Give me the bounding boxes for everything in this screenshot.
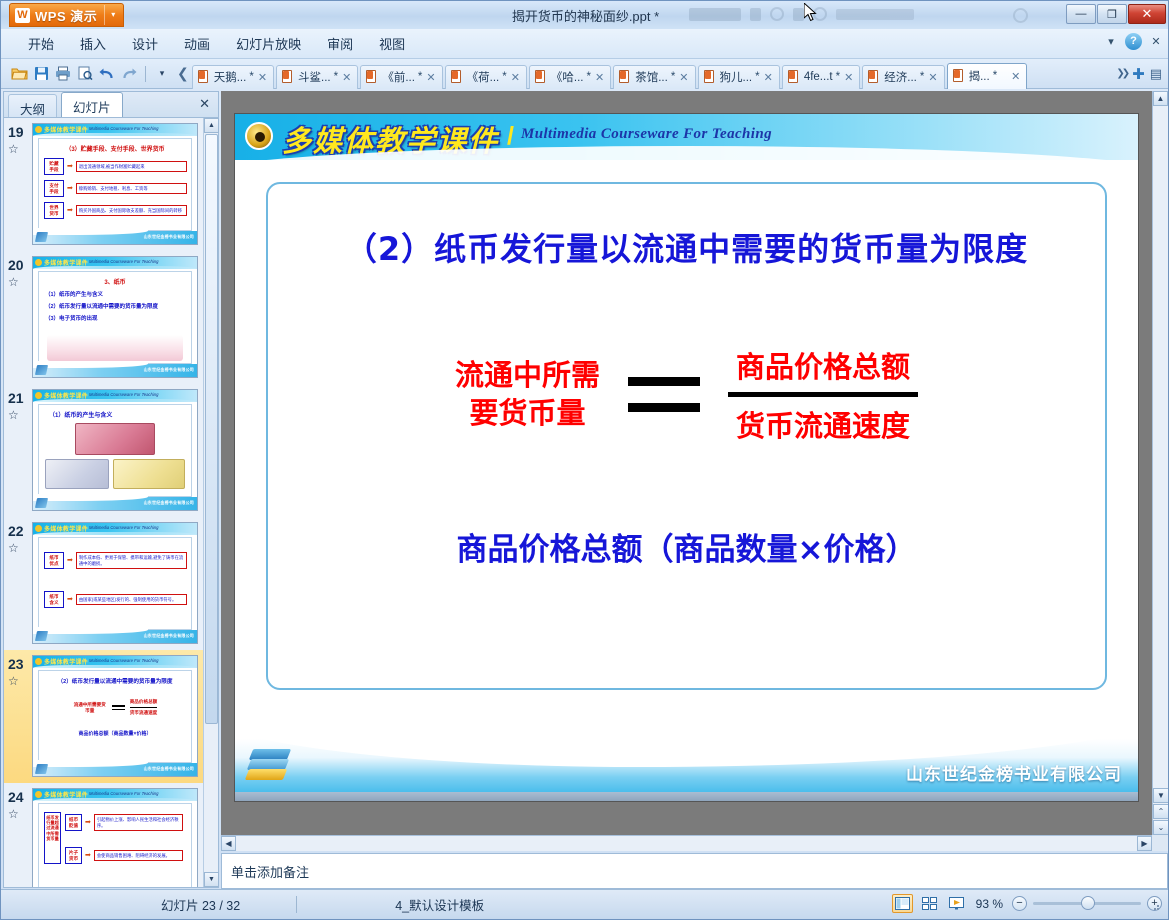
doc-tab-close-icon[interactable]: ✕ — [927, 71, 938, 84]
doc-tab-2[interactable]: 《前... * ✕ — [360, 65, 442, 89]
window-controls: — ❐ ✕ — [1066, 4, 1166, 24]
save-icon[interactable] — [31, 64, 51, 84]
modified-indicator: * — [920, 71, 924, 83]
modified-indicator: * — [502, 71, 506, 83]
close-document-icon[interactable]: ✕ — [1148, 35, 1164, 48]
ppt-file-icon — [704, 70, 717, 84]
animation-star-icon: ☆ — [8, 408, 32, 423]
thumbnail-number: 21 ☆ — [8, 389, 32, 512]
ghost-button-1 — [689, 8, 741, 21]
slide-vertical-scrollbar[interactable]: ▲ ▼ ⌃ ⌄ — [1152, 91, 1168, 835]
thumbnail-number: 19 ☆ — [8, 123, 32, 246]
slide-title[interactable]: （2）纸币发行量以流通中需要的货币量为限度 — [268, 224, 1105, 270]
thumb-bottom-text: 商品价格总额（商品数量×价格） — [39, 730, 191, 737]
document-tabs: 天鹅... * ✕ 斗鲨... * ✕ 《前... * ✕ 《荷... * ✕ — [192, 59, 1117, 89]
modified-indicator: * — [671, 71, 675, 83]
formula-numerator: 商品价格总额 — [728, 344, 918, 386]
doc-tab-label: 4fe...t — [804, 71, 833, 83]
thumbnail-number: 23 ☆ — [8, 655, 32, 778]
doc-tab-label: 天鹅... — [214, 69, 247, 85]
mouse-cursor — [804, 3, 817, 23]
slide-scroll-left-button[interactable]: ◀ — [221, 836, 236, 851]
ghost-button-3 — [770, 7, 784, 21]
thumb-header: 多媒体教学课件 Multimedia Courseware For Teachi… — [33, 257, 197, 269]
print-icon[interactable] — [53, 64, 73, 84]
doc-tab-label: 经济... — [884, 69, 917, 85]
slide-footer-text: 山东世纪金榜书业有限公司 — [906, 760, 1122, 785]
modified-indicator: * — [836, 71, 840, 83]
prev-slide-button[interactable]: ⌃ — [1153, 804, 1169, 819]
doc-tab-close-icon[interactable]: ✕ — [341, 71, 352, 84]
thumb-footer: 山东世纪金榜书业有限公司 — [33, 497, 197, 510]
arrow-right-icon: ➡ — [67, 163, 73, 170]
slide-header-banner: 多媒体教学课件 / Multimedia Courseware For Teac… — [235, 114, 1138, 160]
slide-sorter-view-button[interactable] — [919, 894, 940, 913]
slide-content-frame[interactable]: （2）纸币发行量以流通中需要的货币量为限度 流通中所需 要货币量 商品价格总额 … — [266, 182, 1107, 690]
title-bar: W WPS 演示 ▾ 揭开货币的神秘面纱.ppt * — ❐ ✕ — [1, 1, 1169, 29]
doc-tab-9-active[interactable]: 揭... * ✕ — [947, 63, 1028, 89]
thumbnail-20[interactable]: 20 ☆ 多媒体教学课件 Multimedia Courseware For T… — [4, 251, 218, 384]
thumb-row-label: 纸币 优点 — [44, 552, 64, 569]
arrow-right-icon: ➡ — [85, 852, 91, 859]
notes-placeholder: 单击添加备注 — [231, 865, 309, 880]
books-icon — [35, 631, 48, 641]
arrow-right-icon: ➡ — [85, 819, 91, 826]
doc-tab-label: 狗儿... — [720, 69, 753, 85]
fraction-bar — [728, 392, 918, 397]
thumb-footer-text: 山东世纪金榜书业有限公司 — [144, 367, 194, 373]
thumb-side-label: 纸币发行量超过流通中所需货币量 — [44, 812, 61, 864]
thumb-body: （2）纸币发行量以流通中需要的货币量为限度 流通中所需要货币量 商品价格总额 货… — [38, 670, 192, 763]
doc-tab-8[interactable]: 经济... * ✕ — [862, 65, 944, 89]
thumb-logo-icon — [35, 126, 42, 133]
doc-tab-close-icon[interactable]: ✕ — [763, 71, 774, 84]
ppt-file-icon — [282, 70, 295, 84]
scroll-down-button[interactable]: ▼ — [204, 872, 219, 887]
thumbnail-preview: 多媒体教学课件 Multimedia Courseware For Teachi… — [32, 655, 198, 777]
toolbar-separator — [145, 66, 146, 82]
thumb-footer-text: 山东世纪金榜书业有限公司 — [144, 766, 194, 772]
thumb-line-2: （3）电子货币的出现 — [45, 314, 191, 322]
thumb-row-text: 制作成本低、更易于保管、携带和运输,避免了铸币在流通中的磨损。 — [76, 552, 187, 569]
slide-header-en: Multimedia Courseware For Teaching — [521, 126, 772, 143]
thumb-header: 多媒体教学课件 Multimedia Courseware For Teachi… — [33, 789, 197, 801]
ppt-file-icon — [451, 70, 464, 84]
thumb-row-text: 购买外国商品、支付国际收支差额、充当国际间的转移 — [76, 205, 187, 217]
doc-tab-3[interactable]: 《荷... * ✕ — [445, 65, 527, 89]
ppt-file-icon — [619, 70, 632, 84]
doc-tab-close-icon[interactable]: ✕ — [257, 71, 268, 84]
animation-star-icon: ☆ — [8, 541, 32, 556]
thumb-header-en: Multimedia Courseware For Teaching — [89, 259, 158, 264]
doc-tab-7[interactable]: 4fe...t * ✕ — [782, 65, 860, 89]
doc-tab-label: 《哈... — [551, 69, 584, 85]
slide-thumbnail-list: 19 ☆ 多媒体教学课件 Multimedia Courseware For T… — [4, 118, 218, 887]
equals-bar-bottom — [628, 403, 700, 412]
thumb-footer-text: 山东世纪金榜书业有限公司 — [144, 500, 194, 506]
thumb-row-text: 引起物价上涨、影响人民生活和社会经济秩序。 — [94, 814, 183, 831]
slides-panel: 大纲 幻灯片 ✕ 19 ☆ 多媒体教学课件 Multimedia Coursew… — [3, 91, 219, 888]
formula-left-term: 流通中所需 要货币量 — [455, 357, 600, 431]
thumb-header-en: Multimedia Courseware For Teaching — [89, 525, 158, 530]
slide-horizontal-scrollbar[interactable]: ◀ ▶ — [221, 835, 1152, 851]
books-icon — [35, 365, 48, 375]
thumb-body: 3、纸币 （1）纸币的产生与含义 （2）纸币发行量以流通中需要的货币量为限度 （… — [38, 271, 192, 364]
books-icon — [35, 764, 48, 774]
document-title: 揭开货币的神秘面纱.ppt * — [1, 6, 1169, 25]
zoom-slider[interactable] — [1033, 902, 1141, 905]
footer-strip — [235, 792, 1138, 801]
formula-denominator: 货币流通速度 — [728, 403, 918, 445]
banknote-100-yuan-image — [75, 423, 155, 455]
doc-tab-close-icon[interactable]: ✕ — [678, 71, 689, 84]
doc-tab-close-icon[interactable]: ✕ — [594, 71, 605, 84]
status-bar: 幻灯片 23 / 32 4_默认设计模板 93 % − + — [1, 889, 1169, 919]
thumbnail-number: 22 ☆ — [8, 522, 32, 645]
thumb-header-cn: 多媒体教学课件 — [44, 790, 88, 799]
slides-panel-close-icon[interactable]: ✕ — [199, 96, 210, 112]
menu-item-animation[interactable]: 动画 — [171, 30, 223, 57]
formula-fraction: 商品价格总额 货币流通速度 — [728, 344, 918, 445]
ppt-file-icon — [953, 69, 966, 83]
zoom-out-button[interactable]: − — [1012, 896, 1027, 911]
redo-icon[interactable] — [119, 64, 139, 84]
thumbnail-19[interactable]: 19 ☆ 多媒体教学课件 Multimedia Courseware For T… — [4, 118, 218, 251]
equals-sign — [628, 377, 700, 412]
modified-indicator: * — [755, 71, 759, 83]
thumb-row-label: 纸币 贬值 — [65, 814, 82, 831]
customize-toolbar-chevron-down-icon[interactable]: ▾ — [152, 64, 172, 84]
thumbnail-22[interactable]: 22 ☆ 多媒体教学课件 Multimedia Courseware For T… — [4, 517, 218, 650]
thumb-row-text: 赊购赊销、支付地租、利息、工资等 — [76, 183, 187, 195]
thumb-row-label: 世界 货币 — [44, 202, 64, 219]
arrow-right-icon: ➡ — [67, 185, 73, 192]
slide-header-cn: 多媒体教学课件 — [282, 118, 499, 160]
maximize-button[interactable]: ❐ — [1097, 4, 1127, 24]
modified-indicator: * — [418, 71, 422, 83]
wps-presentation-window: W WPS 演示 ▾ 揭开货币的神秘面纱.ppt * — ❐ ✕ 开始 插入 设… — [0, 0, 1169, 920]
scroll-up-button[interactable]: ▲ — [204, 118, 219, 133]
menu-item-view[interactable]: 视图 — [366, 30, 418, 57]
thumb-row-0: 纸币 优点 ➡ 制作成本低、更易于保管、携带和运输,避免了铸币在流通中的磨损。 — [44, 552, 191, 569]
thumb-header: 多媒体教学课件 Multimedia Courseware For Teachi… — [33, 523, 197, 535]
thumbnail-preview: 多媒体教学课件 Multimedia Courseware For Teachi… — [32, 788, 198, 887]
doc-tab-label: 《荷... — [467, 69, 500, 85]
courseware-logo-icon — [245, 122, 273, 150]
slideshow-view-button[interactable] — [946, 894, 967, 913]
new-tab-icon[interactable]: ✚ — [1132, 65, 1145, 83]
notes-pane[interactable]: 单击添加备注 — [221, 853, 1168, 889]
slides-panel-tabs: 大纲 幻灯片 ✕ — [4, 92, 218, 118]
modified-indicator: * — [993, 70, 997, 82]
equals-bar-top — [628, 377, 700, 386]
thumb-header-en: Multimedia Courseware For Teaching — [89, 658, 158, 663]
slide-scroll-right-button[interactable]: ▶ — [1137, 836, 1152, 851]
doc-tab-5[interactable]: 茶馆... * ✕ — [613, 65, 695, 89]
thumb-footer-text: 山东世纪金榜书业有限公司 — [144, 633, 194, 639]
thumb-row-2: 世界 货币 ➡ 购买外国商品、支付国际收支差额、充当国际间的转移 — [44, 202, 191, 219]
thumb-header-cn: 多媒体教学课件 — [44, 258, 88, 267]
decorative-flower-image — [47, 335, 183, 361]
thumbnail-preview: 多媒体教学课件 Multimedia Courseware For Teachi… — [32, 389, 198, 511]
menu-item-review[interactable]: 审阅 — [314, 30, 366, 57]
ppt-file-icon — [366, 70, 379, 84]
doc-tab-close-icon[interactable]: ✕ — [425, 71, 436, 84]
modified-indicator: * — [587, 71, 591, 83]
thumb-logo-icon — [35, 392, 42, 399]
thumbnail-preview: 多媒体教学课件 Multimedia Courseware For Teachi… — [32, 256, 198, 378]
thumb-header: 多媒体教学课件 Multimedia Courseware For Teachi… — [33, 124, 197, 136]
slide-editing-stage[interactable]: 多媒体教学课件 / Multimedia Courseware For Teac… — [221, 91, 1168, 851]
books-icon — [35, 232, 48, 242]
arrow-right-icon: ➡ — [67, 596, 73, 603]
thumb-header-en: Multimedia Courseware For Teaching — [89, 392, 158, 397]
tabs-scroll-prev-button[interactable]: ❮ — [174, 65, 192, 82]
books-icon — [247, 747, 291, 787]
undo-icon[interactable] — [97, 64, 117, 84]
thumb-body: （1）纸币的产生与含义 — [38, 404, 192, 497]
doc-tab-close-icon[interactable]: ✕ — [843, 71, 854, 84]
thumb-body: 纸币发行量超过流通中所需货币量 纸币 贬值 ➡ 引起物价上涨、影响人民生活和社会… — [38, 803, 192, 887]
thumb-logo-icon — [35, 791, 42, 798]
thumb-footer: 山东世纪金榜书业有限公司 — [33, 630, 197, 643]
current-slide[interactable]: 多媒体教学课件 / Multimedia Courseware For Teac… — [234, 113, 1139, 802]
thumb-footer: 山东世纪金榜书业有限公司 — [33, 763, 197, 776]
thumb-header-cn: 多媒体教学课件 — [44, 657, 88, 666]
search-icon[interactable] — [1013, 8, 1028, 23]
thumb-footer-text: 山东世纪金榜书业有限公司 — [144, 234, 194, 240]
slides-panel-scrollbar[interactable]: ▲ ▼ — [203, 118, 218, 887]
quick-access-toolbar: ▾ ❮ — [1, 64, 192, 84]
menu-item-design[interactable]: 设计 — [119, 30, 171, 57]
menu-item-insert[interactable]: 插入 — [67, 30, 119, 57]
thumbnail-preview: 多媒体教学课件 Multimedia Courseware For Teachi… — [32, 522, 198, 644]
menu-bar-right-controls: ▾ ? ✕ — [1103, 33, 1164, 50]
thumb-line-0: （1）纸币的产生与含义 — [45, 290, 191, 298]
menu-item-slideshow[interactable]: 幻灯片放映 — [223, 30, 314, 57]
thumbnail-preview: 多媒体教学课件 Multimedia Courseware For Teachi… — [32, 123, 198, 245]
tab-slides[interactable]: 幻灯片 — [61, 92, 123, 117]
thumb-formula-denominator: 货币流通速度 — [130, 710, 158, 716]
doc-tab-close-icon[interactable]: ✕ — [1010, 70, 1021, 83]
thumb-header-en: Multimedia Courseware For Teaching — [89, 791, 158, 796]
banknote-10-euro-image — [45, 459, 109, 489]
thumb-line-1: （2）纸币发行量以流通中需要的货币量为限度 — [45, 302, 191, 310]
ghost-button-6 — [836, 9, 914, 20]
animation-star-icon: ☆ — [8, 142, 32, 157]
status-bar-right: 93 % − + — [892, 894, 1162, 913]
ppt-file-icon — [535, 70, 548, 84]
window-list-icon[interactable]: ▤ — [1150, 66, 1162, 82]
scrollbar-corner — [1152, 835, 1168, 851]
design-template-label[interactable]: 4_默认设计模板 — [395, 895, 484, 914]
slide-header-slash: / — [507, 122, 514, 151]
chevron-down-icon[interactable]: ▾ — [1103, 35, 1119, 48]
ppt-file-icon — [198, 70, 211, 84]
doc-tab-6[interactable]: 狗儿... * ✕ — [698, 65, 780, 89]
thumbnail-21[interactable]: 21 ☆ 多媒体教学课件 Multimedia Courseware For T… — [4, 384, 218, 517]
slide-footer-banner: 山东世纪金榜书业有限公司 — [235, 739, 1138, 801]
ghost-button-4 — [793, 8, 804, 21]
animation-star-icon: ☆ — [8, 674, 32, 689]
scrollbar-thumb[interactable] — [205, 134, 218, 724]
doc-tab-label: 斗鲨... — [298, 69, 331, 85]
zoom-level-label: 93 % — [976, 897, 1003, 911]
thumbnail-number: 24 ☆ — [8, 788, 32, 887]
thumb-header: 多媒体教学课件 Multimedia Courseware For Teachi… — [33, 656, 197, 668]
doc-tab-1[interactable]: 斗鲨... * ✕ — [276, 65, 358, 89]
formula-left-line2: 要货币量 — [455, 395, 600, 432]
thumb-logo-icon — [35, 259, 42, 266]
animation-star-icon: ☆ — [8, 807, 32, 822]
formula-left-line1: 流通中所需 — [455, 357, 600, 394]
slide-scroll-up-button[interactable]: ▲ — [1153, 91, 1168, 106]
thumb-row-text: 会使商品销售困难、阻碍经济的发展。 — [94, 850, 183, 862]
resize-grip-icon[interactable] — [1150, 901, 1160, 911]
menu-item-start[interactable]: 开始 — [15, 30, 67, 57]
thumb-header: 多媒体教学课件 Multimedia Courseware For Teachi… — [33, 390, 197, 402]
document-tab-strip: ▾ ❮ 天鹅... * ✕ 斗鲨... * ✕ 《前... * ✕ — [1, 59, 1169, 89]
thumb-title: （3）贮藏手段、支付手段、世界货币 — [39, 144, 191, 153]
thumb-footer: 山东世纪金榜书业有限公司 — [33, 364, 197, 377]
thumb-body: 纸币 优点 ➡ 制作成本低、更易于保管、携带和运输,避免了铸币在流通中的磨损。 … — [38, 537, 192, 630]
thumb-row-label: 贮藏 手段 — [44, 158, 64, 175]
slide-counter: 幻灯片 23 / 32 — [161, 895, 240, 914]
formula-group[interactable]: 流通中所需 要货币量 商品价格总额 货币流通速度 — [268, 344, 1105, 445]
ppt-file-icon — [788, 70, 801, 84]
doc-tab-0[interactable]: 天鹅... * ✕ — [192, 65, 274, 89]
thumb-title: 3、纸币 — [39, 277, 191, 286]
thumb-formula-numerator: 商品价格总额 — [130, 699, 158, 705]
tab-strip-right-controls: ❯❯ ✚ ▤ — [1116, 65, 1169, 83]
slide-scroll-down-button[interactable]: ▼ — [1153, 788, 1169, 803]
thumb-row-1: 支付 手段 ➡ 赊购赊销、支付地租、利息、工资等 — [44, 180, 191, 197]
thumb-header-cn: 多媒体教学课件 — [44, 524, 88, 533]
books-icon — [35, 498, 48, 508]
thumb-row-label: 片子 货币 — [65, 847, 82, 864]
thumb-body: （3）贮藏手段、支付手段、世界货币 贮藏 手段 ➡ 退出流通领域,被当作财富贮藏… — [38, 138, 192, 231]
print-preview-icon[interactable] — [75, 64, 95, 84]
ghost-button-2 — [750, 8, 761, 21]
close-button[interactable]: ✕ — [1128, 4, 1166, 24]
modified-indicator: * — [249, 71, 253, 83]
thumb-row-1: 纸币 含义 ➡ 由国家(或某些地区)发行的、强制使用的货币符号。 — [44, 591, 191, 608]
thumb-row-text: 由国家(或某些地区)发行的、强制使用的货币符号。 — [76, 594, 187, 606]
banknote-1000-yen-image — [113, 459, 185, 489]
arrow-right-icon: ➡ — [67, 207, 73, 214]
doc-tab-4[interactable]: 《哈... * ✕ — [529, 65, 611, 89]
minimize-button[interactable]: — — [1066, 4, 1096, 24]
doc-tab-close-icon[interactable]: ✕ — [510, 71, 521, 84]
thumb-logo-icon — [35, 525, 42, 532]
arrow-right-icon: ➡ — [67, 557, 73, 564]
thumb-header-cn: 多媒体教学课件 — [44, 125, 88, 134]
zoom-slider-handle[interactable] — [1081, 896, 1095, 910]
thumb-row-text: 退出流通领域,被当作财富贮藏起来 — [76, 161, 187, 173]
tabs-overflow-icon[interactable]: ❯❯ — [1116, 68, 1127, 79]
thumb-row-0: 贮藏 手段 ➡ 退出流通领域,被当作财富贮藏起来 — [44, 158, 191, 175]
thumb-row-label: 纸币 含义 — [44, 591, 64, 608]
thumb-title: （2）纸币发行量以流通中需要的货币量为限度 — [39, 677, 191, 685]
thumbnail-24[interactable]: 24 ☆ 多媒体教学课件 Multimedia Courseware For T… — [4, 783, 218, 887]
thumb-footer: 山东世纪金榜书业有限公司 — [33, 231, 197, 244]
modified-indicator: * — [334, 71, 338, 83]
thumb-title: （1）纸币的产生与含义 — [49, 410, 191, 419]
doc-tab-label: 茶馆... — [635, 69, 668, 85]
thumbnail-23-selected[interactable]: 23 ☆ 多媒体教学课件 Multimedia Courseware For T… — [4, 650, 218, 783]
slide-subtitle[interactable]: 商品价格总额（商品数量×价格） — [268, 524, 1105, 569]
thumb-header-en: Multimedia Courseware For Teaching — [89, 126, 158, 131]
thumb-header-cn: 多媒体教学课件 — [44, 391, 88, 400]
doc-tab-label: 揭... — [969, 68, 990, 84]
thumbnail-number: 20 ☆ — [8, 256, 32, 379]
thumb-row-label: 支付 手段 — [44, 180, 64, 197]
inactive-toolbar-group — [689, 7, 914, 21]
ppt-file-icon — [868, 70, 881, 84]
normal-view-button[interactable] — [892, 894, 913, 913]
next-slide-button[interactable]: ⌄ — [1153, 820, 1169, 835]
doc-tab-label: 《前... — [382, 69, 415, 85]
help-icon[interactable]: ? — [1125, 33, 1142, 50]
thumb-logo-icon — [35, 658, 42, 665]
menu-bar: 开始 插入 设计 动画 幻灯片放映 审阅 视图 ▾ ? ✕ — [1, 29, 1169, 59]
status-separator — [296, 896, 297, 913]
tab-outline[interactable]: 大纲 — [8, 94, 57, 117]
animation-star-icon: ☆ — [8, 275, 32, 290]
open-icon[interactable] — [9, 64, 29, 84]
thumb-formula-left: 流通中所需要货币量 — [73, 702, 107, 714]
